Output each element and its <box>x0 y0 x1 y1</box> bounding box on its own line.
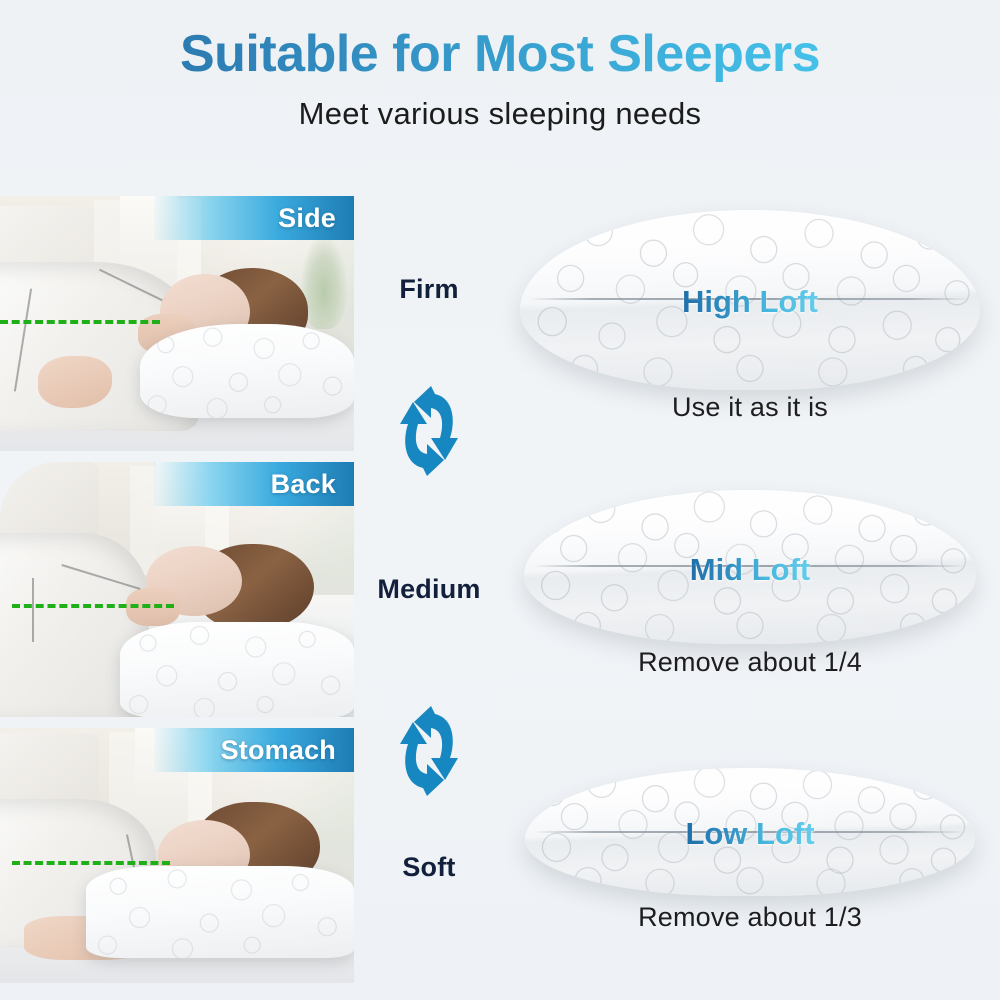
firmness-label-medium: Medium <box>356 574 502 605</box>
badge-label-back: Back <box>271 469 354 500</box>
badge-sleep-position-side[interactable]: Side <box>154 196 354 240</box>
sleep-position-photo-column: Side Back <box>0 196 354 994</box>
arm <box>38 356 112 408</box>
sleep-position-panel-back: Back <box>0 462 354 717</box>
spine-alignment-line <box>12 604 174 608</box>
infographic-page: Suitable for Most Sleepers Meet various … <box>0 0 1000 1000</box>
header: Suitable for Most Sleepers Meet various … <box>0 0 1000 132</box>
loft-options-column: High Loft Use it as it is Mid Loft Remov… <box>500 196 1000 994</box>
firmness-label-soft: Soft <box>356 852 502 883</box>
loft-caption-mid: Remove about 1/4 <box>500 647 1000 678</box>
two-way-cycle-arrow-icon <box>398 698 460 804</box>
loft-label-low: Low Loft <box>685 816 814 852</box>
loft-option-mid: Mid Loft Remove about 1/4 <box>500 464 1000 732</box>
sleep-position-panel-side: Side <box>0 196 354 451</box>
page-title: Suitable for Most Sleepers <box>0 26 1000 82</box>
badge-sleep-position-back[interactable]: Back <box>154 462 354 506</box>
loft-caption-high: Use it as it is <box>500 392 1000 423</box>
product-pillow-in-photo <box>140 324 354 418</box>
loft-option-high: High Loft Use it as it is <box>500 196 1000 464</box>
loft-option-low: Low Loft Remove about 1/3 <box>500 732 1000 994</box>
page-subtitle: Meet various sleeping needs <box>0 96 1000 132</box>
spine-alignment-line <box>0 320 160 324</box>
loft-caption-low: Remove about 1/3 <box>500 902 1000 933</box>
two-way-cycle-arrow-icon <box>398 378 460 484</box>
pajama-seam <box>32 578 34 642</box>
badge-label-side: Side <box>278 203 354 234</box>
product-pillow-in-photo <box>120 622 354 717</box>
firmness-column: Firm Medium Soft <box>356 196 502 996</box>
loft-label-mid: Mid Loft <box>690 552 811 588</box>
product-pillow-in-photo <box>86 866 354 958</box>
badge-label-stomach: Stomach <box>221 735 354 766</box>
spine-alignment-line <box>12 861 170 865</box>
sleep-position-panel-stomach: Stomach <box>0 728 354 983</box>
badge-sleep-position-stomach[interactable]: Stomach <box>154 728 354 772</box>
firmness-label-firm: Firm <box>356 274 502 305</box>
loft-label-high: High Loft <box>682 284 818 320</box>
